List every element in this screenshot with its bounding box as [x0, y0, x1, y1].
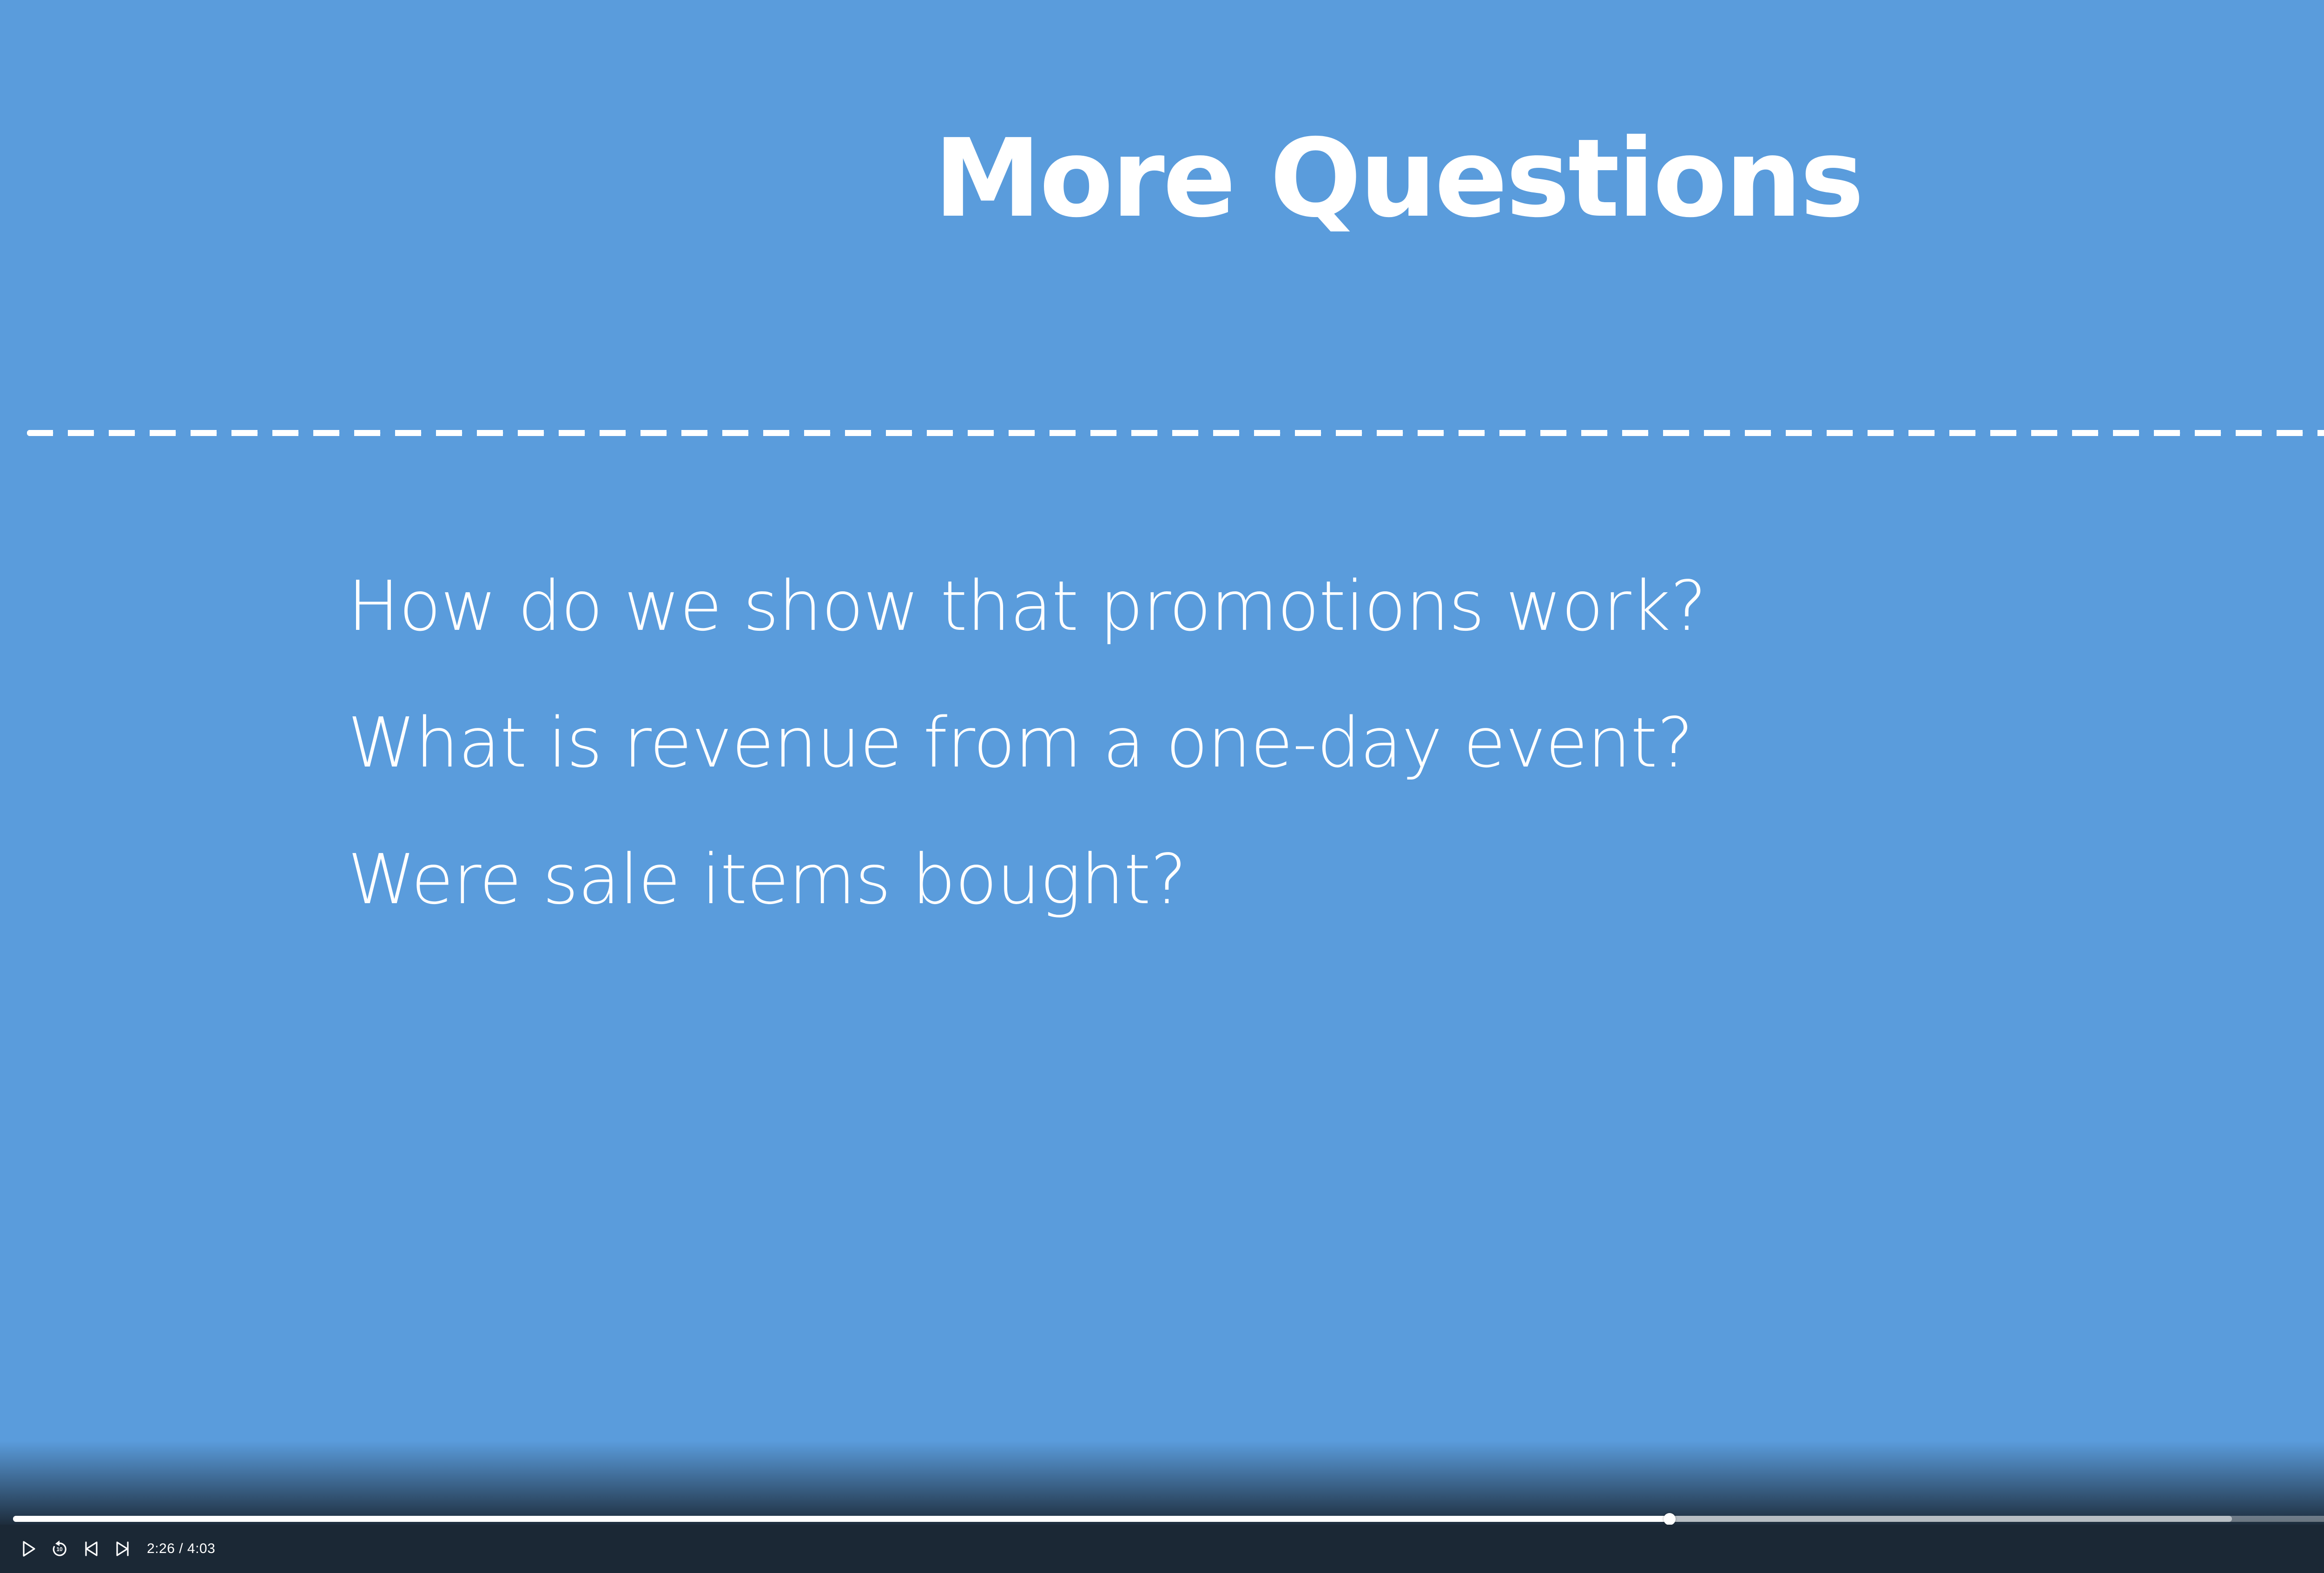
progress-played [13, 1516, 1670, 1522]
progress-track[interactable] [13, 1516, 2324, 1522]
list-item: Were sale items bought? [348, 845, 2324, 914]
player-controls-left: 10 2:26 / 4:03 [12, 1533, 215, 1565]
video-player: More Questions How do we show that promo… [0, 0, 2324, 1573]
list-item: What is revenue from a one-day event? [348, 708, 2324, 777]
player-controls-bar: 10 2:26 / 4:03 1x [0, 1525, 2324, 1573]
bullet-list: How do we show that promotions work? Wha… [348, 572, 2324, 982]
dashed-divider [27, 430, 2324, 436]
page-title: More Questions [0, 125, 2324, 232]
svg-text:10: 10 [56, 1546, 63, 1553]
play-icon[interactable] [12, 1533, 44, 1565]
previous-icon[interactable] [75, 1533, 107, 1565]
slide-canvas: More Questions How do we show that promo… [0, 0, 2324, 1573]
rewind-10-icon[interactable]: 10 [44, 1533, 75, 1565]
progress-scrubber-handle[interactable] [1664, 1513, 1676, 1525]
time-display: 2:26 / 4:03 [147, 1541, 215, 1557]
list-item: How do we show that promotions work? [348, 572, 2324, 641]
next-icon[interactable] [107, 1533, 139, 1565]
